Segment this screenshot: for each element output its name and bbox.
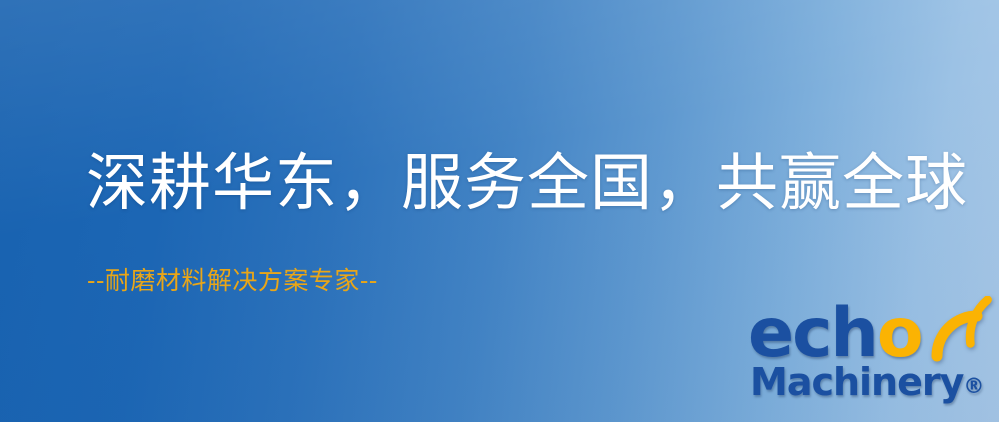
echo-machinery-logo: echo Machinery® (744, 300, 996, 420)
logo-subword: Machinery® (750, 363, 984, 401)
banner-subtitle: --耐磨材料解决方案专家-- (87, 267, 378, 295)
logo-subword-text: Machinery (750, 360, 963, 404)
registered-trademark-icon: ® (963, 374, 984, 398)
banner-headline: 深耕华东，服务全国，共赢全球 (86, 150, 968, 215)
promotional-banner: 深耕华东，服务全国，共赢全球 --耐磨材料解决方案专家-- echo Machi… (0, 0, 999, 422)
echo-waves-icon (917, 296, 995, 362)
logo-wordmark: echo (748, 300, 922, 368)
